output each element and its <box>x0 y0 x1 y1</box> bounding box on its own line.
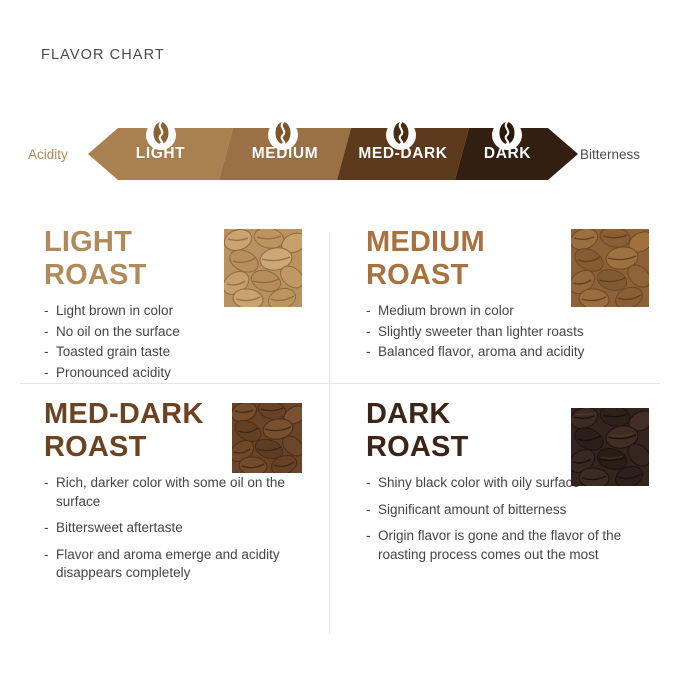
bullet-marker: - <box>366 474 371 493</box>
list-item-text: Light brown in color <box>56 303 173 318</box>
med-dark-roast-beans-photo <box>232 403 302 473</box>
quadrant-bullet-list-medium-roast: -Medium brown in color -Slightly sweeter… <box>366 302 658 362</box>
bullet-marker: - <box>366 302 371 321</box>
list-item: -Toasted grain taste <box>44 343 324 362</box>
list-item: -Rich, darker color with some oil on the… <box>44 474 324 511</box>
page-title: FLAVOR CHART <box>41 47 165 63</box>
list-item: -Pronounced acidity <box>44 364 324 383</box>
quadrant-bullet-list-med-dark-roast: -Rich, darker color with some oil on the… <box>44 474 324 583</box>
coffee-bean-icon-dark <box>492 118 522 152</box>
list-item-text: Toasted grain taste <box>56 344 170 359</box>
spectrum-bar: LIGHT MEDIUM MED-DARK DARK <box>88 128 578 180</box>
medium-roast-beans-photo <box>571 229 649 307</box>
roast-spectrum: Acidity Bitterness LIGHT MEDIUM MED-DARK… <box>28 105 652 183</box>
list-item: -Bittersweet aftertaste <box>44 519 324 538</box>
bullet-marker: - <box>366 527 371 546</box>
dark-roast-beans-photo <box>571 408 649 486</box>
quadrant-divider-vertical <box>329 232 330 634</box>
list-item: -Flavor and aroma emerge and acidity dis… <box>44 546 324 583</box>
quadrant-bullet-list-light-roast: -Light brown in color -No oil on the sur… <box>44 302 324 382</box>
list-item-text: Balanced flavor, aroma and acidity <box>378 344 584 359</box>
flavor-chart-page: FLAVOR CHART Acidity Bitterness LIGHT ME… <box>0 0 679 679</box>
bullet-marker: - <box>366 323 371 342</box>
bullet-marker: - <box>44 343 49 362</box>
list-item-text: No oil on the surface <box>56 324 180 339</box>
bullet-marker: - <box>44 302 49 321</box>
list-item-text: Slightly sweeter than lighter roasts <box>378 324 584 339</box>
coffee-bean-icon-med-dark <box>386 118 416 152</box>
bullet-marker: - <box>366 343 371 362</box>
list-item: -No oil on the surface <box>44 323 324 342</box>
list-item-text: Bittersweet aftertaste <box>56 520 183 535</box>
list-item-text: Medium brown in color <box>378 303 514 318</box>
coffee-bean-icon-medium <box>268 118 298 152</box>
bullet-marker: - <box>44 546 49 565</box>
list-item-text: Flavor and aroma emerge and acidity disa… <box>56 547 280 581</box>
bullet-marker: - <box>44 519 49 538</box>
quadrant-bullet-list-dark-roast: -Shiny black color with oily surface -Si… <box>366 474 658 564</box>
bullet-marker: - <box>366 501 371 520</box>
list-item: -Origin flavor is gone and the flavor of… <box>366 527 658 564</box>
list-item: -Slightly sweeter than lighter roasts <box>366 323 658 342</box>
list-item: -Significant amount of bitterness <box>366 501 658 520</box>
coffee-bean-icon-light <box>146 118 176 152</box>
list-item-text: Origin flavor is gone and the flavor of … <box>378 528 621 562</box>
spectrum-left-label: Acidity <box>28 147 68 163</box>
list-item-text: Shiny black color with oily surface <box>378 475 580 490</box>
bullet-marker: - <box>44 474 49 493</box>
list-item-text: Pronounced acidity <box>56 365 171 380</box>
list-item-text: Rich, darker color with some oil on the … <box>56 475 285 509</box>
spectrum-right-label: Bitterness <box>580 147 640 163</box>
list-item-text: Significant amount of bitterness <box>378 502 566 517</box>
light-roast-beans-photo <box>224 229 302 307</box>
bullet-marker: - <box>44 364 49 383</box>
bullet-marker: - <box>44 323 49 342</box>
list-item: -Balanced flavor, aroma and acidity <box>366 343 658 362</box>
